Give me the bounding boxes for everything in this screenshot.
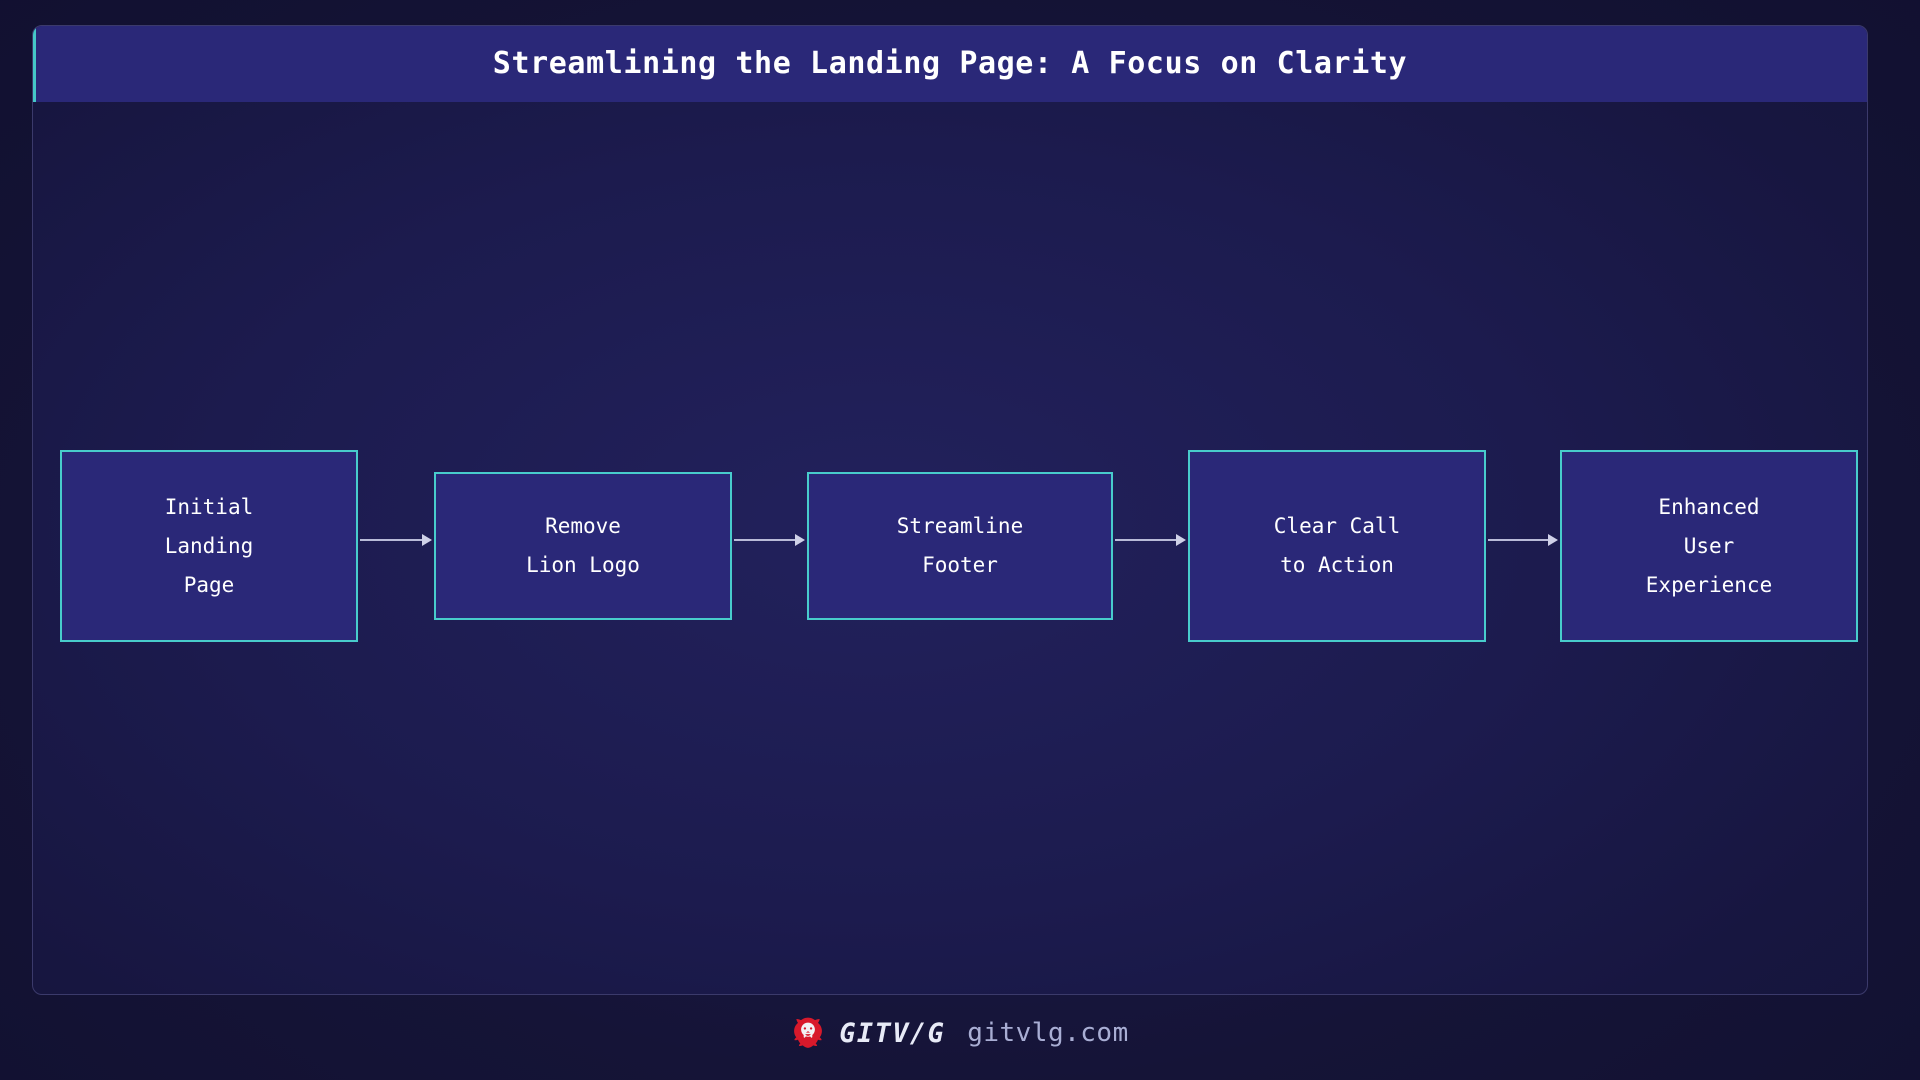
flow-node-clear-call-to-action[interactable]: Clear Call to Action	[1188, 450, 1486, 642]
flow-node-remove-lion-logo[interactable]: Remove Lion Logo	[434, 472, 732, 620]
arrow-line	[360, 539, 422, 541]
arrow-head-icon	[422, 534, 432, 546]
flow-arrow-edge-3	[1115, 534, 1186, 546]
flow-node-enhanced-user-experience[interactable]: Enhanced User Experience	[1560, 450, 1858, 642]
arrow-head-icon	[1176, 534, 1186, 546]
arrow-line	[734, 539, 795, 541]
footer-brand: GITV/G gitvlg.com	[0, 1008, 1920, 1058]
flowchart: Initial Landing PageRemove Lion LogoStre…	[33, 26, 1867, 994]
flow-node-label: Clear Call to Action	[1274, 507, 1400, 585]
flow-node-label: Initial Landing Page	[165, 488, 254, 605]
flow-arrow-edge-4	[1488, 534, 1558, 546]
flow-node-label: Streamline Footer	[897, 507, 1023, 585]
arrow-head-icon	[795, 534, 805, 546]
flow-arrow-edge-2	[734, 534, 805, 546]
diagram-canvas: Streamlining the Landing Page: A Focus o…	[32, 25, 1868, 995]
flow-node-label: Enhanced User Experience	[1646, 488, 1772, 605]
flow-node-streamline-footer[interactable]: Streamline Footer	[807, 472, 1113, 620]
arrow-line	[1488, 539, 1548, 541]
brand-name: GITV/G	[839, 1018, 945, 1049]
brand-url: gitvlg.com	[967, 1018, 1129, 1048]
arrow-line	[1115, 539, 1176, 541]
lion-head-icon	[791, 1016, 825, 1050]
flow-node-initial-landing-page[interactable]: Initial Landing Page	[60, 450, 358, 642]
page-root: Streamlining the Landing Page: A Focus o…	[0, 0, 1920, 1080]
flow-arrow-edge-1	[360, 534, 432, 546]
arrow-head-icon	[1548, 534, 1558, 546]
flow-node-label: Remove Lion Logo	[526, 507, 640, 585]
